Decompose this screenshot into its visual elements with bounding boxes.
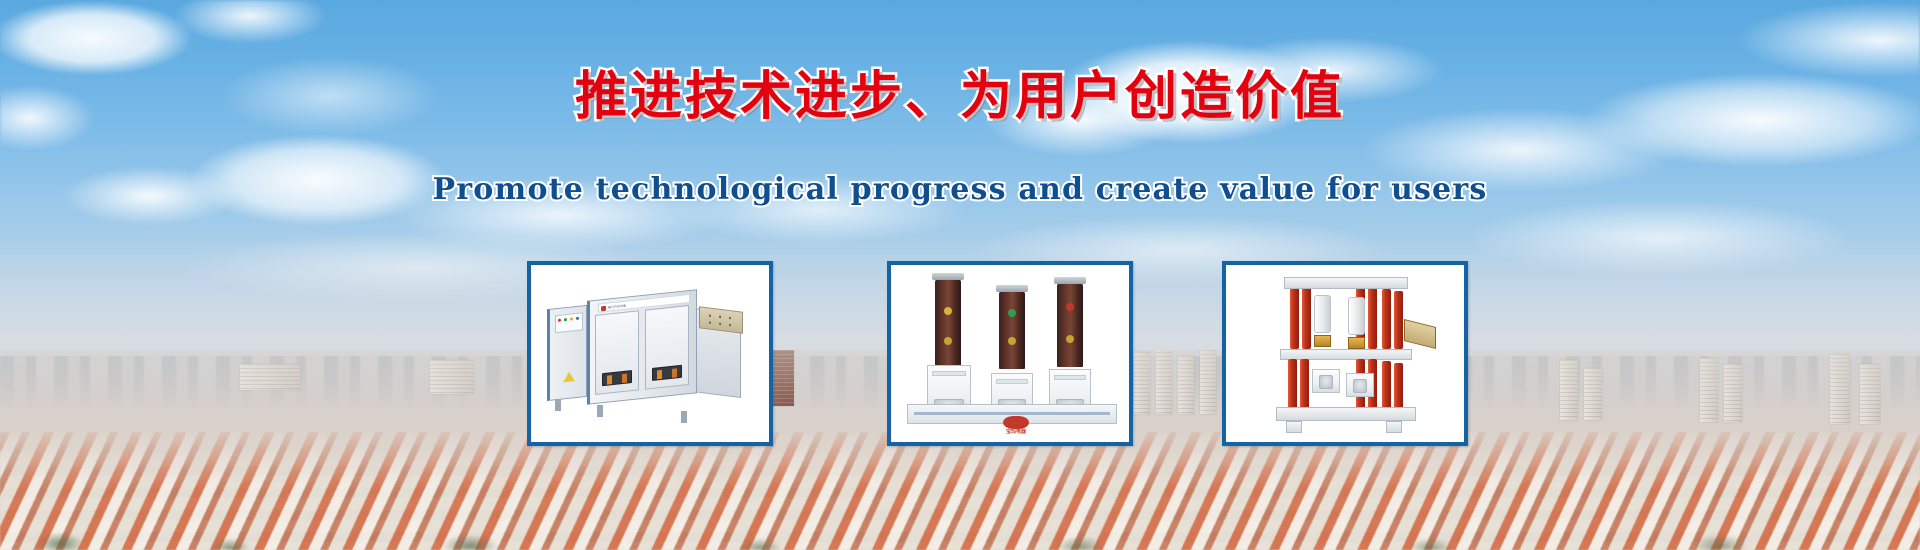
product-card-2[interactable]: 宝玛电器 (887, 261, 1133, 446)
insulator-column (1382, 289, 1391, 349)
terminal-clamp-1 (1314, 335, 1331, 347)
pole-marker (1008, 309, 1016, 317)
product-image-vacuum-circuit-breaker: 宝玛电器 (891, 265, 1129, 442)
logo-mark-icon (1003, 416, 1029, 429)
base-frame-plate (1276, 407, 1416, 421)
vacuum-interrupter-1 (1314, 295, 1331, 333)
top-deck-plate (1284, 277, 1408, 289)
pole-marker (944, 337, 952, 345)
product-image-vacuum-contactor (1226, 265, 1464, 442)
breaker-pole-3 (1057, 283, 1083, 367)
pole-marker (1008, 337, 1016, 345)
cabinet-main-body: 高压开关设备 (587, 289, 697, 405)
insulator-column (1394, 363, 1403, 413)
pole-top-terminal (996, 285, 1028, 292)
lower-coil-assembly-1 (1312, 369, 1340, 393)
manufacturer-logo: 宝玛电器 (996, 416, 1036, 440)
control-indicator-panel (555, 312, 583, 333)
pole-top-terminal (1054, 277, 1086, 284)
breaker-pole-1 (935, 279, 961, 371)
insulator-column (1394, 291, 1403, 349)
mounting-bracket (1286, 421, 1302, 433)
vacuum-interrupter-2 (1348, 297, 1365, 335)
headline-chinese: 推进技术进步、为用户创造价值 (0, 54, 1920, 129)
insulator-column (1290, 287, 1299, 349)
terminal-clamp-2 (1348, 337, 1365, 349)
product-card-3[interactable] (1222, 261, 1468, 446)
subtitle-english: Promote technological progress and creat… (0, 172, 1920, 207)
side-terminal-block (1404, 319, 1436, 349)
logo-text: 宝玛电器 (996, 429, 1036, 435)
product-card-1[interactable]: 高压开关设备 (527, 261, 773, 446)
cabinet-foot (555, 399, 561, 411)
cabinet-foot (597, 405, 603, 417)
warning-triangle-icon (563, 371, 575, 382)
pole-marker (1066, 335, 1074, 343)
cabinet-foot (681, 411, 687, 423)
mounting-bracket (1386, 421, 1402, 433)
insulator-column (1288, 359, 1297, 411)
middle-deck-plate (1280, 349, 1412, 360)
insulator-column (1300, 359, 1309, 411)
breaker-pole-2 (999, 291, 1025, 369)
insulator-column (1382, 361, 1391, 413)
cabinet-control-section (547, 305, 587, 401)
pole-marker (1066, 303, 1074, 311)
lower-coil-assembly-2 (1346, 373, 1374, 397)
pole-top-terminal (932, 273, 964, 280)
pole-marker (944, 307, 952, 315)
product-image-switchgear-cabinet: 高压开关设备 (531, 265, 769, 442)
insulator-column (1302, 285, 1311, 349)
insulator-column (1368, 287, 1377, 349)
promo-banner: 推进技术进步、为用户创造价值 Promote technological pro… (0, 0, 1920, 550)
